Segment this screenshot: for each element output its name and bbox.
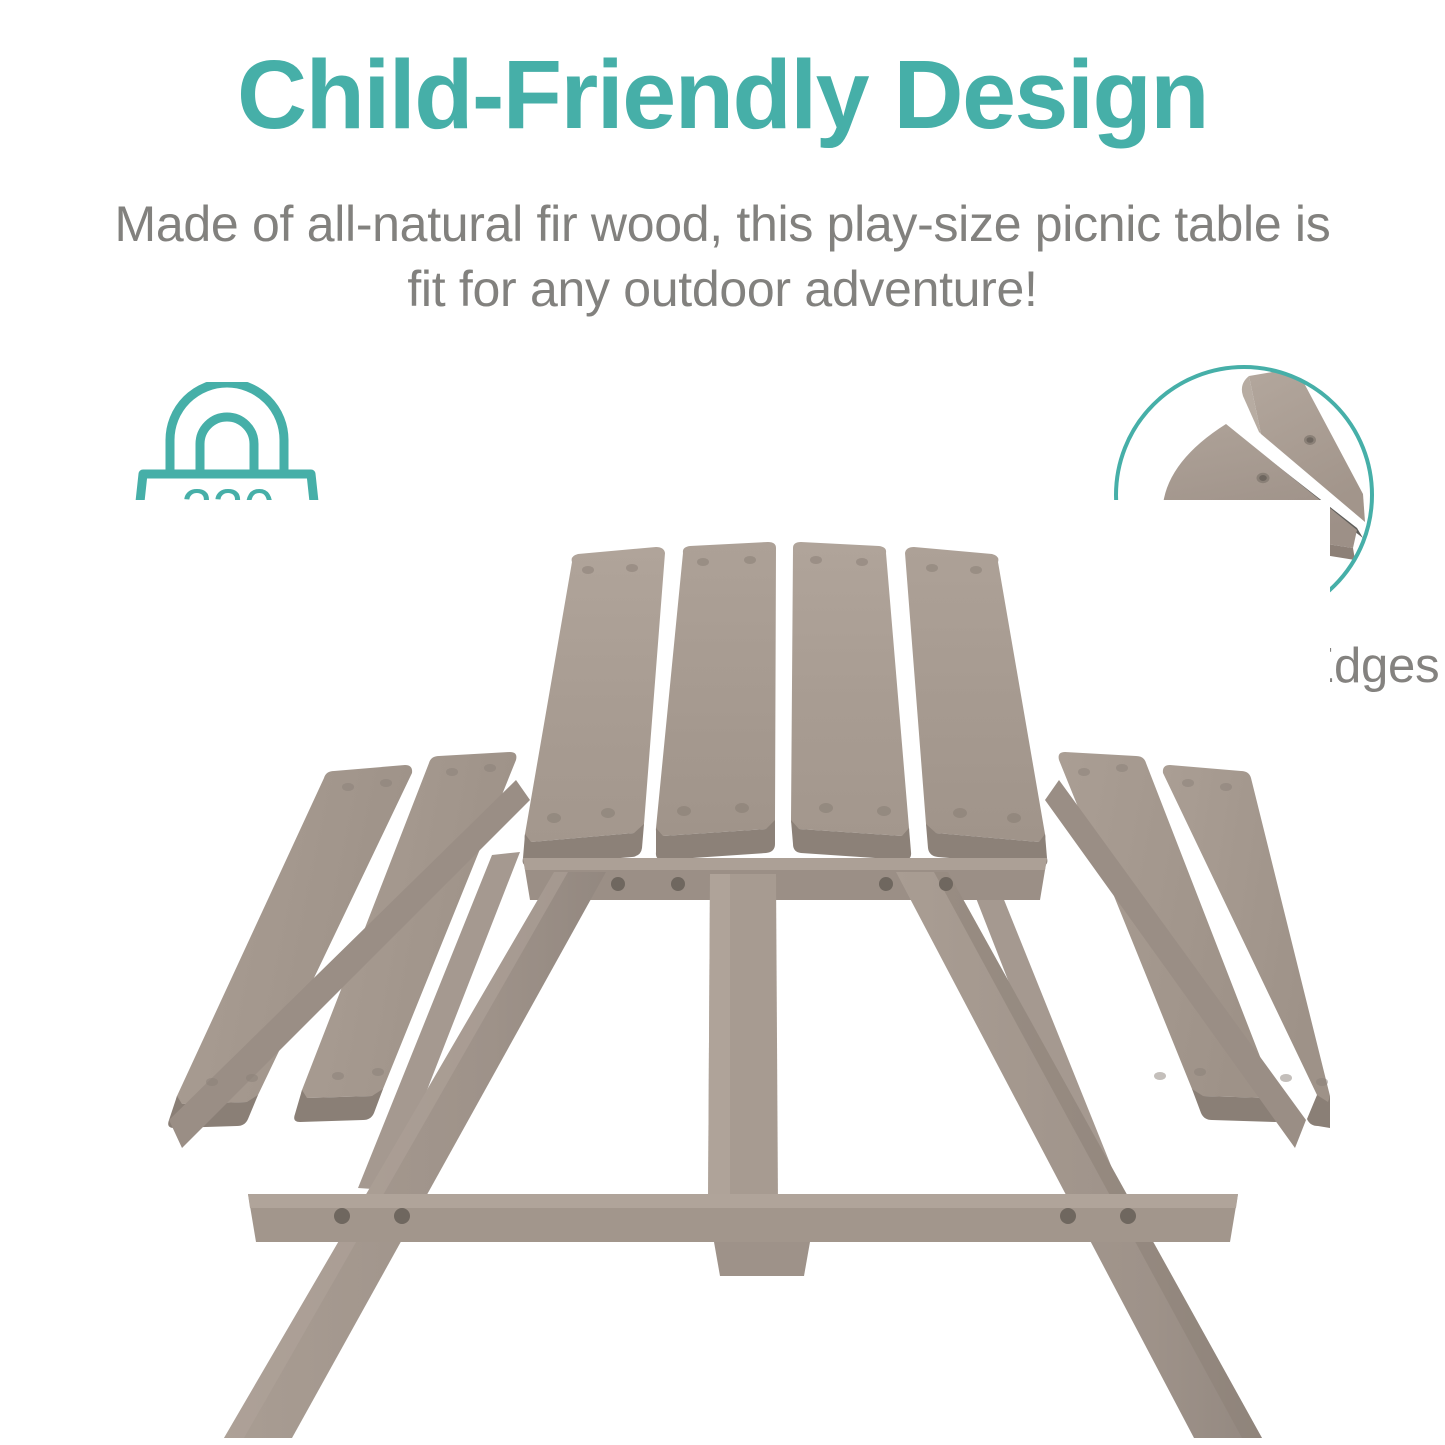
tabletop-apron-highlight — [523, 858, 1047, 870]
center-foot-block — [714, 1242, 810, 1276]
handle-inner-arc — [200, 417, 254, 474]
picnic-table-product-image — [120, 500, 1330, 1445]
center-post-highlight — [708, 874, 730, 1206]
cross-brace-highlight — [248, 1194, 1238, 1208]
product-feature-graphic: Child-Friendly Design Made of all-natura… — [0, 0, 1445, 1445]
handle-outer-arc — [170, 383, 284, 474]
page-title: Child-Friendly Design — [0, 44, 1445, 146]
page-subtitle: Made of all-natural fir wood, this play-… — [110, 192, 1335, 322]
